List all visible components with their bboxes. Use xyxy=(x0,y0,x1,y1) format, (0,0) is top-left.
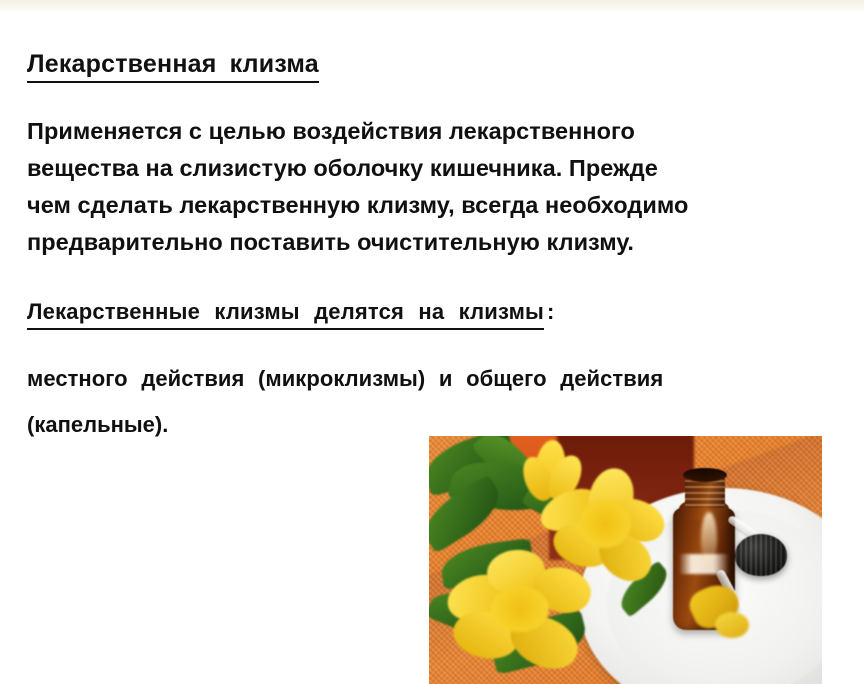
paragraph-intro-line-2: вещества на слизистую оболочку кишечника… xyxy=(27,150,797,187)
page-title: Лекарственная клизма xyxy=(27,50,319,79)
black-bottle-cap xyxy=(735,534,787,576)
herbal-oil-photo xyxy=(429,436,822,684)
flower-center xyxy=(491,586,549,632)
paragraph-types-line-1: местного действия (микроклизмы) и общего… xyxy=(27,356,839,402)
slide-top-band xyxy=(0,0,864,11)
paragraph-types: местного действия (микроклизмы) и общего… xyxy=(27,356,839,448)
paragraph-intro-line-1: Применяется с целью воздействия лекарств… xyxy=(27,113,797,150)
bottle-opening xyxy=(683,468,727,482)
page-title-text: Лекарственная клизма xyxy=(27,50,319,83)
slide-canvas: Лекарственная клизма Применяется с целью… xyxy=(0,0,864,684)
bottle-glass-highlight xyxy=(701,512,717,566)
section-heading-text: Лекарственные клизмы делятся на клизмы xyxy=(27,299,544,330)
flower-center xyxy=(579,500,631,548)
yellow-oil-smear xyxy=(715,612,749,638)
paragraph-intro-line-4: предварительно поставить очистительную к… xyxy=(27,224,797,261)
paragraph-intro: Применяется с целью воздействия лекарств… xyxy=(27,113,797,261)
section-heading: Лекарственные клизмы делятся на клизмы: xyxy=(27,299,554,325)
section-heading-colon: : xyxy=(544,299,554,324)
yellow-flower xyxy=(447,546,597,676)
paragraph-intro-line-3: чем сделать лекарственную клизму, всегда… xyxy=(27,187,797,224)
photo-content xyxy=(429,436,822,684)
